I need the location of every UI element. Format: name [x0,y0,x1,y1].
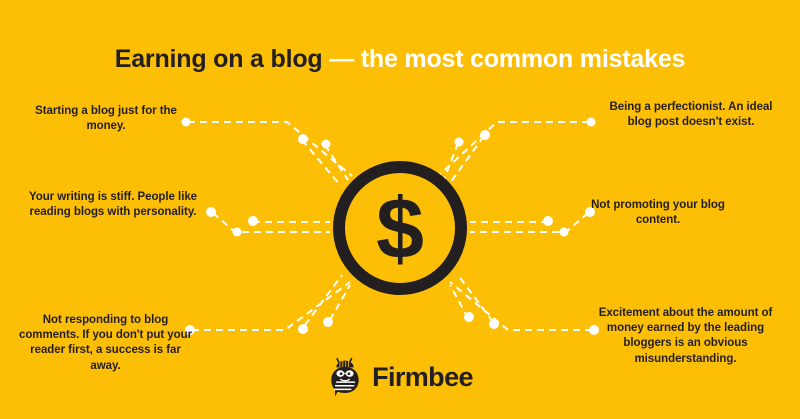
infographic-canvas: Earning on a blog — the most common mist… [0,0,800,419]
connector-dot-bottom-left-a [298,324,308,334]
connector-dot-top-left-b [322,140,331,149]
connector-dot-bottom-left-b [323,317,333,327]
callout-top-left: Starting a blog just for the money. [26,104,186,134]
connector-dot-top-right-origin [587,118,596,127]
callout-top-right: Being a perfectionist. An ideal blog pos… [600,100,782,130]
connector-dot-top-right-b [455,138,464,147]
connector-dot-mid-left-origin [206,207,216,217]
connector-dot-mid-right-b [543,216,553,226]
connector-dot-bottom-right-b [464,312,474,322]
connector-dot-mid-right-a [560,228,569,237]
brand-name: Firmbee [372,364,473,391]
firmbee-bee-icon [327,358,363,397]
connector-line-bottom-right [450,282,592,330]
connector-dot-mid-left-a [233,228,242,237]
brand-logo: Firmbee [0,358,800,397]
callout-mid-left: Your writing is stiff. People like readi… [22,190,204,220]
connector-dot-bottom-right-a [489,319,499,329]
connector-dot-top-right-a [480,130,490,140]
dollar-circle-icon: $ [330,158,470,298]
connector-dot-top-left-a [298,134,308,144]
connector-dot-mid-left-b [248,216,258,226]
bee-body [331,367,358,397]
callout-mid-right: Not promoting your blog content. [568,198,748,228]
emblem-symbol: $ [376,181,424,277]
